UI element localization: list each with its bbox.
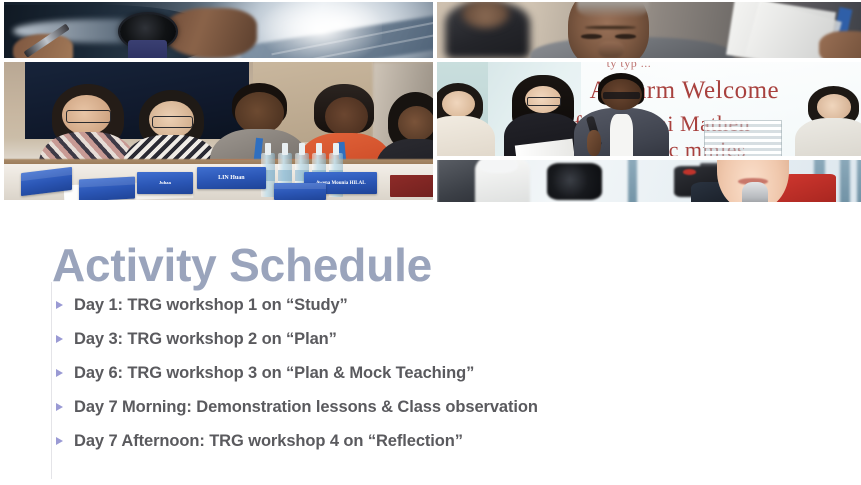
list-item-label: Day 7 Morning: Demonstration lessons & C… bbox=[74, 390, 836, 424]
name-placard: Juhaa bbox=[137, 172, 193, 194]
name-placard: LIN Huan bbox=[197, 167, 266, 189]
name-placard bbox=[79, 176, 135, 200]
slide-root: Juhaa LIN Huan Awena Mounia HILAL ty typ… bbox=[0, 0, 861, 485]
panel-attendee bbox=[802, 86, 861, 156]
banner-line-0: ty typ ... bbox=[607, 62, 652, 71]
panel-attendee bbox=[509, 75, 577, 156]
triangle-bullet-icon bbox=[56, 288, 74, 322]
list-item: Day 1: TRG workshop 1 on “Study” bbox=[56, 288, 836, 322]
list-item-label: Day 6: TRG workshop 3 on “Plan & Mock Te… bbox=[74, 356, 836, 390]
photo-child-microphone bbox=[437, 160, 861, 202]
photo-man-reading bbox=[437, 2, 861, 58]
list-item-label: Day 3: TRG workshop 2 on “Plan” bbox=[74, 322, 836, 356]
photo-welcome-banner: ty typ ... A Warm Welcome le f Shanghai … bbox=[437, 62, 861, 156]
activity-schedule-list: Day 1: TRG workshop 1 on “Study” Day 3: … bbox=[56, 288, 836, 458]
list-item-label: Day 1: TRG workshop 1 on “Study” bbox=[74, 288, 836, 322]
list-item: Day 7 Morning: Demonstration lessons & C… bbox=[56, 390, 836, 424]
triangle-bullet-icon bbox=[56, 356, 74, 390]
panel-attendee bbox=[437, 83, 488, 156]
photo-conference-table: Juhaa LIN Huan Awena Mounia HILAL bbox=[4, 62, 433, 200]
triangle-bullet-icon bbox=[56, 390, 74, 424]
page-title: Activity Schedule bbox=[52, 240, 432, 291]
triangle-bullet-icon bbox=[56, 322, 74, 356]
panel-speaker bbox=[585, 73, 657, 156]
photo-collage: Juhaa LIN Huan Awena Mounia HILAL ty typ… bbox=[0, 0, 861, 202]
triangle-bullet-icon bbox=[56, 424, 74, 458]
list-item: Day 6: TRG workshop 3 on “Plan & Mock Te… bbox=[56, 356, 836, 390]
photo-hands-watch bbox=[4, 2, 433, 58]
list-item: Day 7 Afternoon: TRG workshop 4 on “Refl… bbox=[56, 424, 836, 458]
list-item: Day 3: TRG workshop 2 on “Plan” bbox=[56, 322, 836, 356]
name-placard bbox=[274, 183, 325, 200]
list-item-label: Day 7 Afternoon: TRG workshop 4 on “Refl… bbox=[74, 424, 836, 458]
list-vertical-rule bbox=[51, 282, 52, 479]
